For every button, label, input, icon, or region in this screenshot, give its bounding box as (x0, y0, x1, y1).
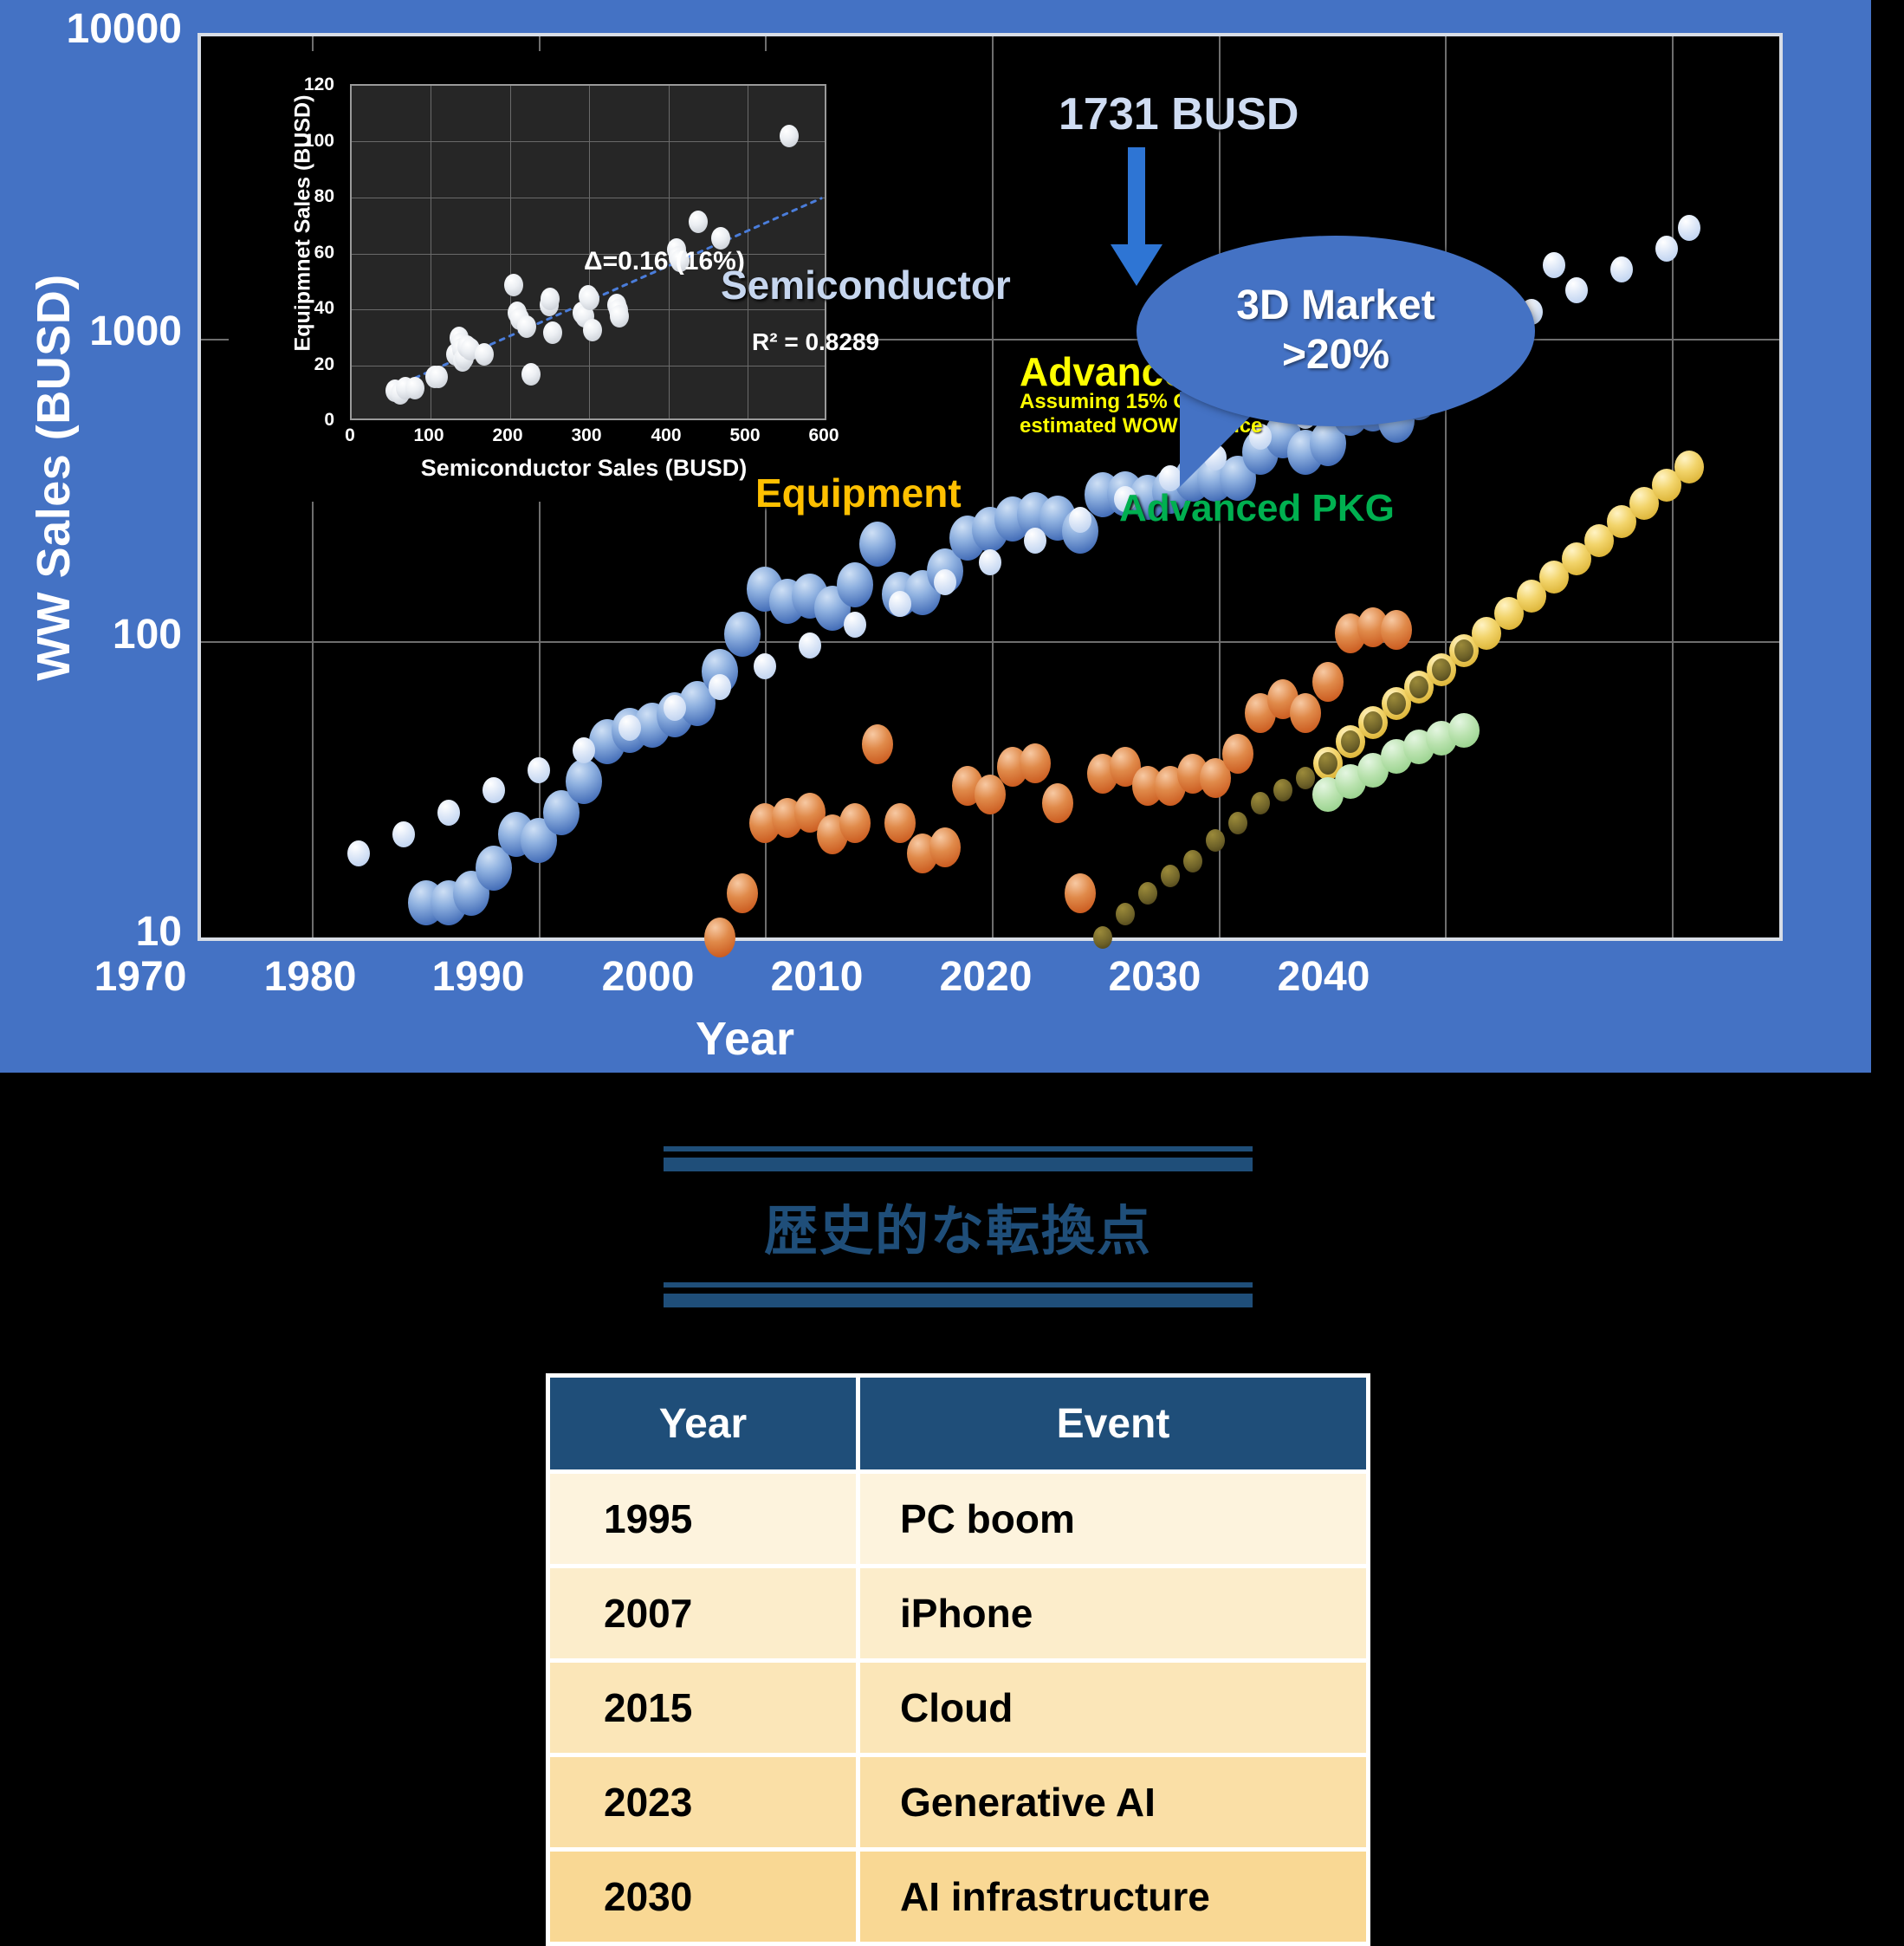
inset-y-tick-20: 20 (274, 354, 334, 375)
data-point (528, 757, 550, 783)
data-point (709, 674, 731, 700)
inset-data-point (610, 305, 629, 328)
table-body: 1995PC boom2007iPhone2015Cloud2023Genera… (548, 1472, 1369, 1944)
callout-line-1: 3D Market (1236, 282, 1434, 331)
cell-event: PC boom (858, 1472, 1369, 1567)
data-point (1409, 676, 1428, 698)
data-point (862, 724, 893, 764)
inset-data-point (580, 288, 599, 310)
cell-event: AI infrastructure (858, 1850, 1369, 1944)
data-point (1251, 792, 1270, 814)
table-row: 1995PC boom (548, 1472, 1369, 1567)
data-point (1138, 882, 1157, 905)
inset-data-point (543, 321, 562, 344)
data-point (1318, 752, 1337, 775)
data-point (482, 777, 505, 803)
y-axis-title: WW Sales (BUSD) (27, 217, 81, 737)
data-point (1206, 829, 1225, 852)
inset-x-tick-300: 300 (560, 425, 612, 446)
inset-y-tick-80: 80 (274, 186, 334, 207)
inset-x-tick-0: 0 (324, 425, 376, 446)
section-title-block: 歴史的な転換点 (664, 1146, 1253, 1307)
x-tick-2020: 2020 (899, 953, 1072, 1001)
inset-data-point (689, 211, 708, 233)
inset-data-point (521, 363, 541, 386)
data-point (704, 918, 735, 957)
x-tick-1970: 1970 (54, 953, 227, 1001)
data-point (727, 873, 758, 913)
table-row: 2015Cloud (548, 1661, 1369, 1755)
data-point (1020, 743, 1051, 783)
events-table: Year Event 1995PC boom2007iPhone2015Clou… (546, 1373, 1370, 1946)
data-point (837, 562, 873, 607)
cell-year: 2007 (548, 1567, 858, 1661)
data-point (884, 803, 916, 843)
table-header-row: Year Event (548, 1376, 1369, 1472)
data-point (859, 522, 896, 567)
inset-plot-area: Δ=0.16 (16%) R² = 0.8289 (350, 84, 826, 420)
data-point (839, 803, 871, 843)
data-point (664, 695, 686, 721)
inset-x-tick-100: 100 (403, 425, 455, 446)
title-rule-bottom-thick (664, 1294, 1253, 1307)
data-point (724, 612, 761, 657)
data-point (1069, 507, 1091, 533)
title-rule-bottom-thin (664, 1282, 1253, 1288)
inset-data-point (517, 315, 536, 338)
table-row: 2030AI infrastructure (548, 1850, 1369, 1944)
data-point (573, 737, 595, 763)
cell-year: 2015 (548, 1661, 858, 1755)
annotation-arrow-head-icon (1111, 244, 1162, 286)
chart-plot-area: Equipmnet Sales (BUSD) 120 100 80 60 40 … (198, 33, 1783, 941)
x-tick-1980: 1980 (223, 953, 397, 1001)
data-point (1565, 277, 1588, 303)
y-tick-1000: 1000 (35, 308, 182, 355)
data-point (618, 715, 641, 741)
inset-y-tick-120: 120 (274, 75, 334, 95)
data-point (1381, 610, 1412, 650)
data-point (347, 840, 370, 866)
data-point (1543, 252, 1565, 278)
data-point (1674, 451, 1704, 483)
inset-x-tick-400: 400 (640, 425, 692, 446)
cell-event: Cloud (858, 1661, 1369, 1755)
data-point (1024, 528, 1046, 554)
data-point (437, 800, 460, 826)
annotation-arrow-shaft-icon (1128, 147, 1145, 251)
data-point (1065, 873, 1096, 913)
inset-y-axis-title: Equipmnet Sales (BUSD) (291, 50, 316, 397)
data-point (1655, 236, 1678, 262)
data-point (1183, 850, 1202, 872)
data-point (1363, 711, 1383, 734)
data-point (1290, 693, 1321, 733)
callout-3d-market: 3D Market >20% (1137, 236, 1535, 426)
title-rule-top-thick (664, 1158, 1253, 1171)
cell-event: iPhone (858, 1567, 1369, 1661)
data-point (754, 653, 776, 679)
x-tick-2030: 2030 (1068, 953, 1241, 1001)
callout-line-2: >20% (1282, 331, 1389, 380)
annotation-1731-busd: 1731 BUSD (1059, 88, 1298, 140)
data-point (1093, 926, 1112, 949)
cell-event: Generative AI (858, 1755, 1369, 1850)
cell-year: 1995 (548, 1472, 858, 1567)
inset-data-point (475, 343, 494, 366)
inset-x-tick-500: 500 (719, 425, 771, 446)
inset-data-point (780, 125, 799, 147)
gridline-vertical (1445, 36, 1447, 937)
data-point (1273, 779, 1292, 801)
x-tick-2000: 2000 (561, 953, 735, 1001)
cell-year: 2030 (548, 1850, 858, 1944)
series-label-advanced-pkg: Advanced PKG (1119, 487, 1395, 530)
data-point (1116, 903, 1135, 925)
x-tick-2040: 2040 (1237, 953, 1410, 1001)
data-point (1222, 734, 1253, 774)
inset-data-point (405, 377, 424, 399)
inset-data-point (583, 319, 602, 341)
inset-data-point (541, 288, 560, 310)
data-point (1042, 783, 1073, 823)
inset-y-tick-60: 60 (274, 243, 334, 263)
title-rule-top-thin (664, 1146, 1253, 1151)
data-point (1161, 865, 1180, 887)
data-point (566, 759, 602, 804)
historical-turning-points-section: 歴史的な転換点 Year Event 1995PC boom2007iPhone… (0, 1073, 1904, 1846)
x-tick-2010: 2010 (730, 953, 903, 1001)
inset-x-tick-200: 200 (482, 425, 534, 446)
table-row: 2007iPhone (548, 1567, 1369, 1661)
inset-x-tick-600: 600 (798, 425, 850, 446)
y-tick-10: 10 (35, 908, 182, 956)
data-point (1610, 256, 1633, 282)
cell-year: 2023 (548, 1755, 858, 1850)
y-tick-100: 100 (35, 611, 182, 658)
inset-data-point (429, 366, 448, 388)
inset-data-point (504, 274, 523, 296)
inset-y-tick-100: 100 (274, 131, 334, 152)
series-label-semiconductor: Semiconductor (721, 262, 1011, 308)
table-row: 2023Generative AI (548, 1755, 1369, 1850)
data-point (1312, 662, 1344, 702)
data-point (929, 827, 961, 867)
data-point (889, 591, 911, 617)
data-point (392, 821, 415, 847)
inset-r2-label: R² = 0.8289 (752, 328, 879, 356)
data-point (1341, 730, 1360, 753)
data-point (979, 549, 1001, 575)
data-point (1448, 713, 1480, 748)
gridline-horizontal (201, 641, 1779, 643)
column-header-year: Year (548, 1376, 858, 1472)
data-point (1454, 639, 1473, 662)
x-axis-title: Year (589, 1012, 901, 1066)
section-title: 歴史的な転換点 (664, 1171, 1253, 1282)
data-point (934, 569, 956, 595)
series-label-equipment: Equipment (755, 470, 962, 516)
data-point (1296, 767, 1315, 789)
data-point (799, 632, 821, 658)
inset-y-tick-40: 40 (274, 298, 334, 319)
data-point (1387, 692, 1406, 715)
data-point (1228, 812, 1247, 834)
column-header-event: Event (858, 1376, 1369, 1472)
data-point (1678, 215, 1700, 241)
x-tick-1990: 1990 (392, 953, 565, 1001)
data-point (844, 612, 866, 638)
y-tick-10000: 10000 (35, 5, 182, 53)
data-point (1432, 658, 1451, 681)
semiconductor-sales-chart-panel: WW Sales (BUSD) 10000 1000 100 10 1970 1… (0, 0, 1871, 1073)
